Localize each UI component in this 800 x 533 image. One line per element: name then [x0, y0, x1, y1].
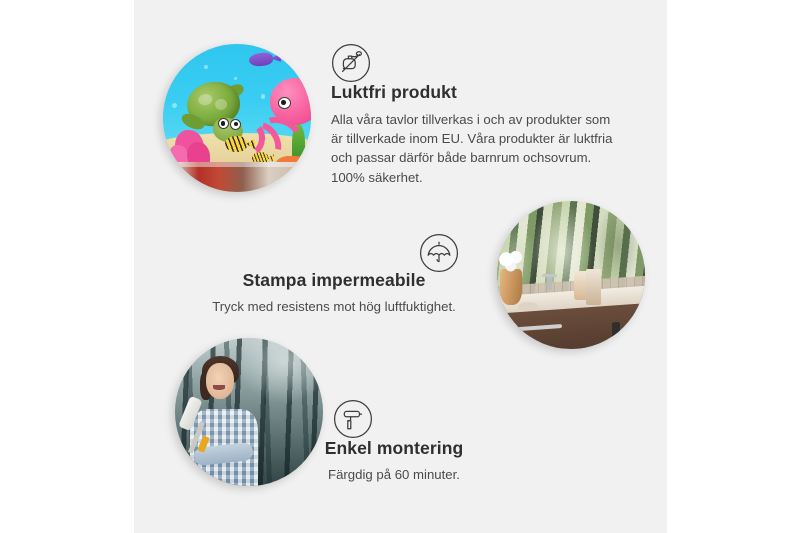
underwater-cartoon-photo: [163, 44, 311, 192]
feature-body: Tryck med resistens mot hög luftfuktighe…: [186, 297, 482, 316]
soap-dish: [518, 302, 539, 311]
bubble: [261, 94, 265, 98]
feature-body: Färgdig på 60 minuter.: [248, 465, 540, 484]
bubble: [204, 65, 208, 69]
feature-title: Enkel montering: [248, 438, 540, 460]
white-flowers: [497, 248, 528, 275]
feature-waterproof-text: Stampa impermeabile Tryck med resistens …: [186, 270, 482, 316]
no-spray-bottle-icon: [331, 43, 371, 83]
feature-body: Alla våra tavlor tillverkas i och av pro…: [331, 110, 623, 187]
feature-title: Luktfri produkt: [331, 82, 623, 104]
octopus-eye: [278, 97, 291, 109]
yellow-fish: [225, 136, 247, 152]
bathroom-leaf-wallpaper-photo: [497, 201, 645, 349]
woman-smile: [213, 385, 225, 389]
towel: [586, 269, 601, 305]
woman-face: [206, 363, 234, 399]
umbrella-icon: [419, 233, 459, 273]
cabinet-handle: [612, 322, 620, 349]
feature-odourless-text: Luktfri produkt Alla våra tavlor tillver…: [331, 82, 623, 187]
turtle-eye: [218, 118, 229, 129]
paint-roller-icon: [333, 399, 373, 439]
feature-easy-mounting-text: Enkel montering Färgdig på 60 minuter.: [248, 438, 540, 484]
photo-bottom-strip: [175, 162, 305, 192]
faucet: [547, 274, 551, 290]
promo-infographic: Luktfri produkt Alla våra tavlor tillver…: [0, 0, 800, 533]
cabinet-handle: [635, 323, 642, 349]
feature-title: Stampa impermeabile: [186, 270, 482, 292]
